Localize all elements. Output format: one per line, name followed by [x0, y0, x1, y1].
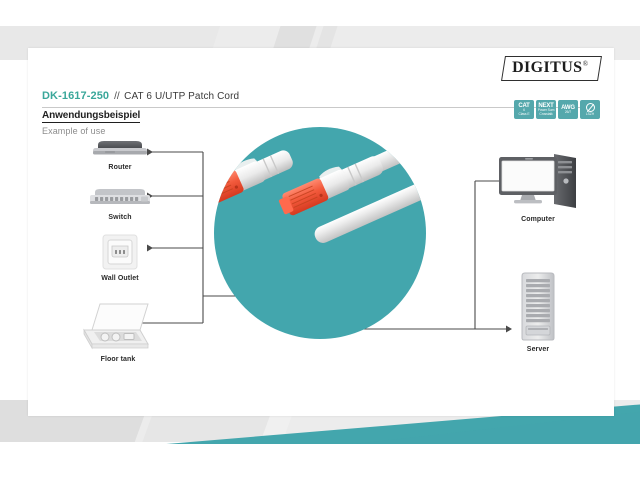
device-node-server: Server — [490, 270, 586, 353]
wall-outlet-label: Wall Outlet — [101, 275, 138, 282]
computer-label: Computer — [521, 216, 555, 223]
content-card: DIGITUS® DK-1617-250// CAT 6 U/UTP Patch… — [28, 48, 614, 416]
floor-tank-icon — [78, 300, 158, 352]
application-diagram: Router — [28, 48, 614, 416]
wall-outlet-icon — [101, 233, 139, 271]
server-icon — [515, 270, 561, 342]
device-node-floor-tank: Floor tank — [62, 300, 174, 363]
computer-icon — [496, 152, 580, 212]
product-photo-circle — [214, 127, 426, 339]
device-node-wall-outlet: Wall Outlet — [74, 233, 166, 282]
device-node-router: Router — [74, 140, 166, 171]
switch-label: Switch — [108, 214, 131, 221]
switch-icon — [87, 188, 153, 210]
device-node-computer: Computer — [480, 152, 596, 223]
server-label: Server — [527, 346, 549, 353]
router-icon — [89, 140, 151, 160]
router-label: Router — [108, 164, 131, 171]
floor-tank-label: Floor tank — [101, 356, 136, 363]
slide-canvas: DIGITUS® DK-1617-250// CAT 6 U/UTP Patch… — [0, 0, 640, 480]
patch-cord-illustration — [214, 127, 426, 339]
device-node-switch: Switch — [74, 188, 166, 221]
